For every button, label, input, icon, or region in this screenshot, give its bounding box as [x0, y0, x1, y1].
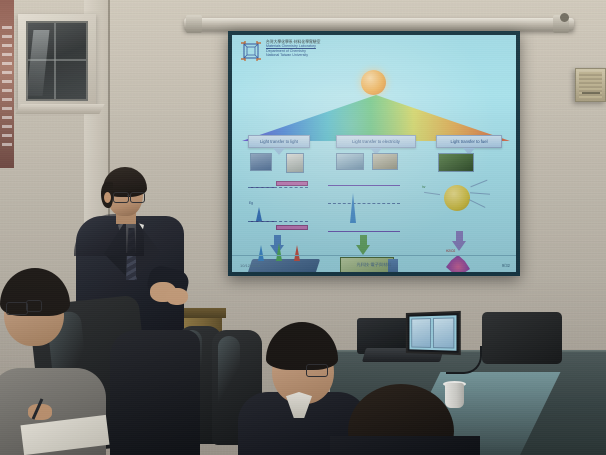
thumb-leaf: [438, 153, 474, 172]
thumb-solar-farm: [372, 153, 398, 170]
energy-gap-label: Eg: [249, 201, 253, 205]
seminar-room-photo: 台灣大學化學系·材料化學實驗室 Materials Chemistry Labo…: [0, 0, 606, 455]
fermi-level: [328, 203, 400, 204]
projection-screen-roller: [184, 18, 574, 31]
sun-core: [361, 70, 386, 95]
window-sill: [15, 104, 104, 114]
banner-text-lines: [2, 26, 12, 146]
laptop-pane-left: [411, 318, 431, 348]
glasses-bridge: [127, 195, 130, 196]
arrow-up-energy: [256, 207, 262, 221]
block-arrow-electricity: [356, 235, 370, 255]
paper-cup: [445, 383, 464, 408]
glasses-icon: [113, 192, 129, 203]
slide-footer-title: 光科技·電子與材料: [357, 262, 392, 268]
presenter-ear: [104, 192, 111, 203]
cube-logo-icon: [240, 40, 262, 62]
arrow-up-carrier: [350, 193, 356, 223]
pathway-box-electricity: Light transfer to electricity: [336, 135, 416, 148]
audience-edge-jacket: [110, 330, 200, 455]
logo-line-university: National Taiwan University: [266, 53, 320, 57]
block-arrow-fuel: [452, 231, 466, 251]
band-edge-upper: [328, 185, 400, 186]
slide-logo: 台灣大學化學系·材料化學實驗室 Materials Chemistry Labo…: [240, 40, 320, 62]
slide-page-number: 9/32: [502, 263, 510, 268]
speaker-grill: [579, 72, 602, 98]
glasses-icon-audience-left: [6, 302, 28, 315]
roller-knob: [560, 13, 569, 22]
presenter-hand-right: [166, 288, 188, 305]
glasses-icon-right: [130, 192, 145, 203]
thumb-solar-panel: [336, 153, 364, 170]
dashed-guide-1: [248, 187, 308, 188]
laptop-pane-right: [433, 317, 454, 348]
arrow-down-light: [273, 148, 285, 155]
thumb-led-blue: [250, 153, 272, 171]
projection-screen-frame: 台灣大學化學系·材料化學實驗室 Materials Chemistry Labo…: [228, 31, 520, 276]
wall-banner: [0, 0, 14, 168]
band-edge-lower: [328, 231, 400, 232]
chair-far-right[interactable]: [482, 312, 562, 364]
thumb-lamp: [286, 153, 304, 173]
wall-speaker-unit: [575, 68, 606, 102]
speaker-slot: [582, 92, 600, 94]
roller-cap-left: [186, 15, 202, 33]
photocatalyst-particle: [444, 185, 470, 211]
slide-date: 10/12/2018: [240, 263, 260, 268]
pathway-box-light: Light transfer to light: [248, 135, 310, 148]
audience-foreground-shoulders: [330, 436, 480, 455]
glasses-icon-audience-center: [306, 364, 328, 377]
quantum-well-left: [276, 181, 308, 186]
quantum-well-left-2: [276, 225, 308, 230]
pathway-box-fuel: Light transfer to fuel: [436, 135, 502, 148]
projected-slide: 台灣大學化學系·材料化學實驗室 Materials Chemistry Labo…: [232, 35, 516, 272]
dashed-guide-2: [248, 221, 308, 222]
